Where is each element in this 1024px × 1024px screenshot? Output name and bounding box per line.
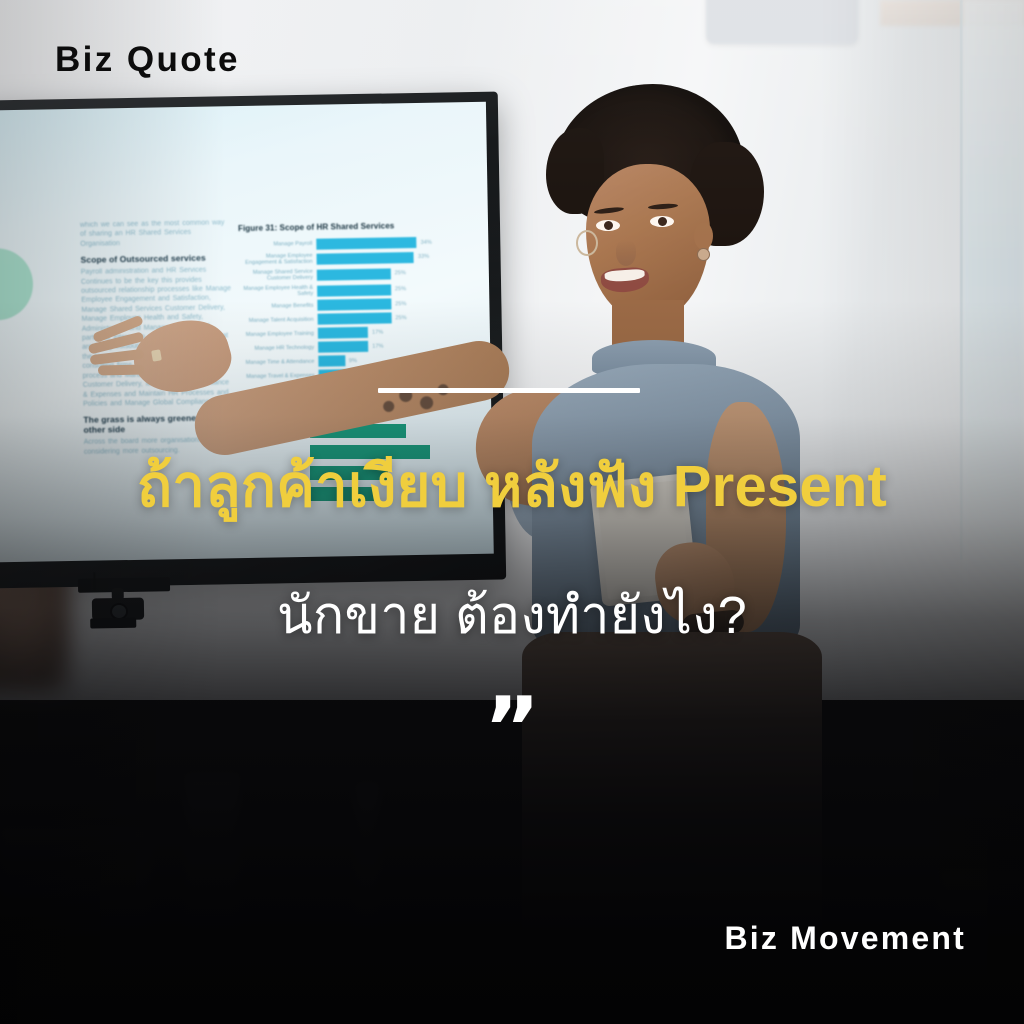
quote-graphic-canvas: which we can see as the most common way … bbox=[0, 0, 1024, 1024]
white-divider-line bbox=[378, 388, 640, 393]
quote-mark-icon: ” bbox=[0, 686, 1024, 772]
headline-line-1: ถ้าลูกค้าเงียบ หลังฟัง Present bbox=[0, 455, 1024, 519]
headline-line-2: นักขาย ต้องทำยังไง? bbox=[0, 588, 1024, 645]
brand-bottom-label: Biz Movement bbox=[724, 920, 966, 957]
brand-top-label: Biz Quote bbox=[55, 40, 240, 80]
